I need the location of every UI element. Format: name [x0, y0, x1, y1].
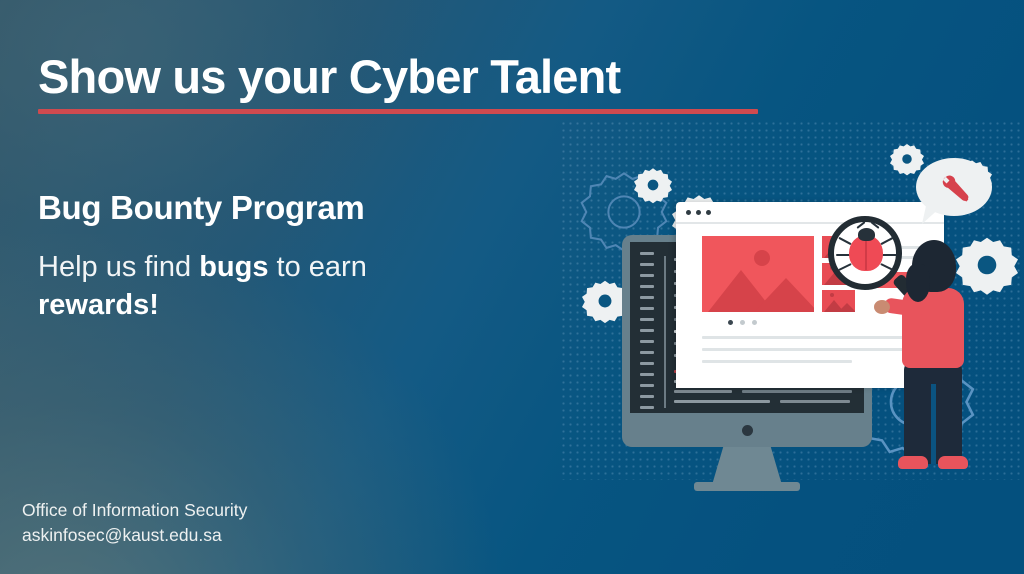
- person-shoe-left: [898, 456, 928, 469]
- headline-underline: [38, 109, 758, 114]
- wrench-icon: [938, 174, 974, 211]
- footer-org: Office of Information Security: [22, 498, 247, 523]
- carousel-dot-2[interactable]: [740, 320, 745, 325]
- browser-dot-3: [706, 210, 711, 215]
- gear-small-top: [634, 166, 672, 204]
- person-illustration: [890, 234, 1000, 474]
- browser-title-bar: [676, 202, 944, 224]
- browser-dot-2: [696, 210, 701, 215]
- footer-email: askinfosec@kaust.edu.sa: [22, 523, 247, 548]
- carousel-dot-active[interactable]: [728, 320, 733, 325]
- bug-wing-split: [865, 238, 867, 270]
- tagline-part2: to earn: [268, 251, 366, 283]
- bug-head: [858, 228, 875, 241]
- monitor-stand-neck: [712, 447, 782, 485]
- tagline-bold-rewards: rewards!: [38, 289, 159, 321]
- monitor-indicator-dot: [742, 425, 753, 436]
- hero-peak-right: [754, 278, 814, 312]
- person-hand: [874, 300, 890, 314]
- text-block: Show us your Cyber Talent Bug Bounty Pro…: [38, 52, 538, 325]
- browser-dot-1: [686, 210, 691, 215]
- bug-bounty-banner: Show us your Cyber Talent Bug Bounty Pro…: [0, 0, 1024, 574]
- hero-image-placeholder: [702, 236, 814, 312]
- tagline: Help us find bugs to earn rewards!: [38, 248, 398, 325]
- carousel-dot-3[interactable]: [752, 320, 757, 325]
- thumbnail-3: [822, 290, 855, 312]
- person-shoe-right: [938, 456, 968, 469]
- person-hair-side: [906, 264, 930, 302]
- person-leg-gap: [931, 384, 936, 464]
- illustration: [560, 130, 1024, 490]
- subheadline: Bug Bounty Program: [38, 190, 538, 226]
- content-line-5: [702, 360, 852, 363]
- monitor-stand-foot: [694, 482, 800, 491]
- content-line-4: [702, 348, 918, 351]
- footer-contact: Office of Information Security askinfose…: [22, 498, 247, 548]
- tagline-part1: Help us find: [38, 251, 199, 283]
- gear-top-right: [890, 142, 924, 176]
- hero-sun: [754, 250, 770, 266]
- headline: Show us your Cyber Talent: [38, 52, 538, 103]
- tagline-bold-bugs: bugs: [199, 251, 268, 283]
- content-line-3: [702, 336, 918, 339]
